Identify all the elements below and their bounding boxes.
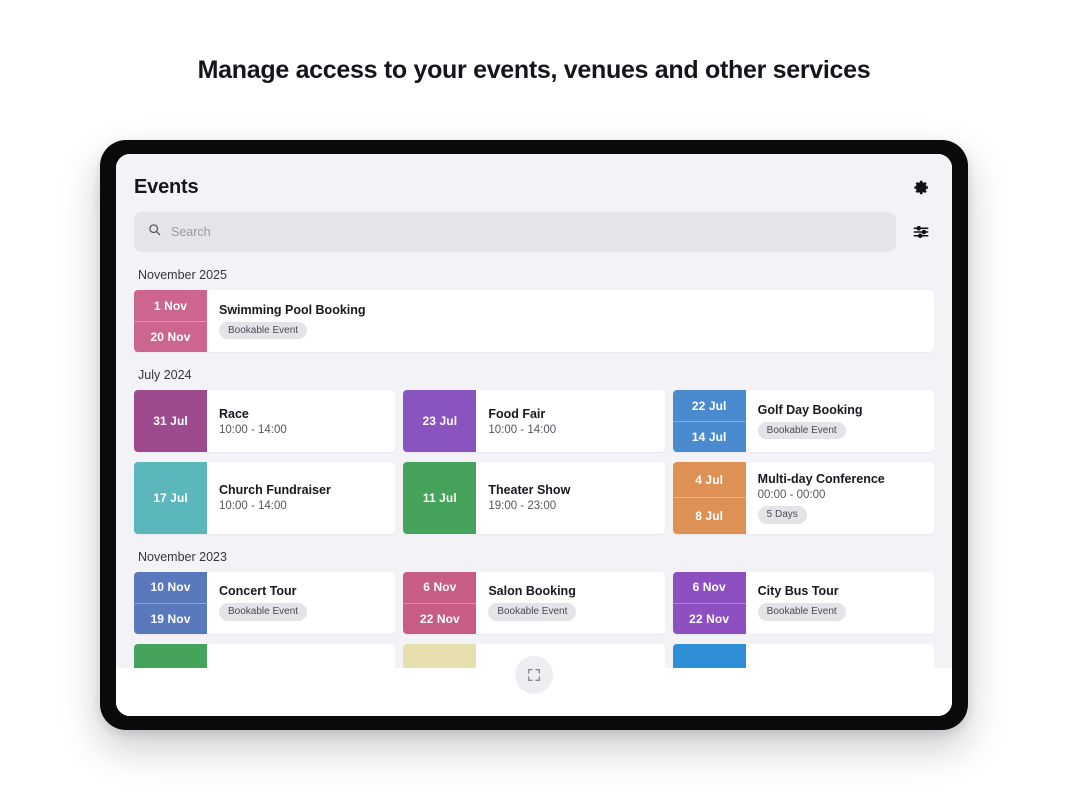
event-date-column: 22 Jul14 Jul [673,390,746,452]
event-card-body: Church Fundraiser10:00 - 14:00 [207,462,395,534]
event-date-chip: 23 Jul [403,390,476,452]
event-date-chip: 4 Jul [673,462,746,497]
event-date-column: 1 Nov20 Nov [134,290,207,352]
event-badge: Bookable Event [219,603,307,621]
event-card[interactable]: 10 Nov19 NovConcert TourBookable Event [134,572,395,634]
event-time: 00:00 - 00:00 [758,489,922,501]
group-label: July 2024 [138,368,934,382]
event-date-column: 31 Jul [134,390,207,452]
event-date-column: 1 Nov [673,644,746,669]
event-card-body: Theme Park Access [746,644,934,669]
event-card[interactable]: 4 Jul8 JulMulti-day Conference00:00 - 00… [673,462,934,534]
app-header: Events [116,154,952,206]
event-card[interactable]: 6 Nov22 NovSalon BookingBookable Event [403,572,664,634]
event-time: 19:00 - 23:00 [488,500,652,512]
event-card[interactable]: 6 NovYoga / Fitness Classes [134,644,395,669]
events-app: Events [116,154,952,716]
event-card-body: Golf Day BookingBookable Event [746,390,934,452]
group-label: November 2023 [138,550,934,564]
event-date-chip: 6 Nov [673,572,746,603]
page-title: Events [134,176,198,199]
event-title: Salon Booking [488,584,652,598]
event-card-body: Race10:00 - 14:00 [207,390,395,452]
event-date-column: 17 Jul [134,462,207,534]
event-card-body: Yoga / Fitness Classes [207,644,395,669]
event-date-column: 11 Jul [403,462,476,534]
event-title: Theater Show [488,483,652,497]
event-date-chip: 1 Nov [134,290,207,321]
event-title: Food Fair [488,407,652,421]
event-date-chip: 22 Nov [673,603,746,634]
event-title: City Bus Tour [758,584,922,598]
event-title: Concert Tour [219,584,383,598]
event-date-chip: 10 Nov [134,572,207,603]
event-title: Multi-day Conference [758,472,922,486]
page-headline: Manage access to your events, venues and… [0,56,1068,85]
event-card[interactable]: 22 Jul14 JulGolf Day BookingBookable Eve… [673,390,934,452]
event-date-chip: 6 Nov [403,644,476,669]
search-row [116,206,952,252]
event-card[interactable]: 1 Nov20 NovSwimming Pool BookingBookable… [134,290,934,352]
event-date-chip: 1 Nov [673,644,746,669]
event-date-column: 6 Nov22 Nov [403,572,476,634]
search-icon [148,223,161,241]
event-date-chip: 22 Nov [403,603,476,634]
event-badge: Bookable Event [219,322,307,340]
event-date-chip: 19 Nov [134,603,207,634]
event-card-grid: 31 JulRace10:00 - 14:0023 JulFood Fair10… [134,390,934,534]
event-title: Church Fundraiser [219,483,383,497]
event-card[interactable]: 31 JulRace10:00 - 14:00 [134,390,395,452]
event-date-chip: 6 Nov [134,644,207,669]
tablet-frame: Events [100,140,968,730]
event-card-body: Concert TourBookable Event [207,572,395,634]
event-card[interactable]: 17 JulChurch Fundraiser10:00 - 14:00 [134,462,395,534]
gear-icon[interactable] [908,174,934,200]
event-card[interactable]: 11 JulTheater Show19:00 - 23:00 [403,462,664,534]
event-date-chip: 6 Nov [403,572,476,603]
event-date-column: 23 Jul [403,390,476,452]
event-card-body: Multi-day Conference00:00 - 00:005 Days [746,462,934,534]
sliders-icon[interactable] [908,219,934,245]
event-card[interactable]: 23 JulFood Fair10:00 - 14:00 [403,390,664,452]
event-badge: Bookable Event [758,603,846,621]
event-badge: Bookable Event [488,603,576,621]
event-card-grid: 10 Nov19 NovConcert TourBookable Event6 … [134,572,934,669]
event-time: 10:00 - 14:00 [219,500,383,512]
event-date-column: 6 Nov [134,644,207,669]
event-card-body: Food Fair10:00 - 14:00 [476,390,664,452]
event-date-chip: 11 Jul [403,462,476,534]
event-date-column: 6 Nov22 Nov [673,572,746,634]
event-date-chip: 22 Jul [673,390,746,421]
event-date-chip: 17 Jul [134,462,207,534]
tablet-screen: Events [116,154,952,716]
event-date-chip: 31 Jul [134,390,207,452]
event-card[interactable]: 1 NovTheme Park Access [673,644,934,669]
event-badge: Bookable Event [758,422,846,440]
event-date-chip: 20 Nov [134,321,207,352]
event-card-body: Theater Show19:00 - 23:00 [476,462,664,534]
event-date-column: 6 Nov [403,644,476,669]
event-card[interactable]: 6 Nov22 NovCity Bus TourBookable Event [673,572,934,634]
event-date-column: 10 Nov19 Nov [134,572,207,634]
event-badge: 5 Days [758,506,807,524]
fullscreen-expand-icon[interactable] [515,656,553,694]
event-title: Race [219,407,383,421]
event-date-chip: 14 Jul [673,421,746,452]
event-date-chip: 8 Jul [673,497,746,533]
event-card-body: Salon BookingBookable Event [476,572,664,634]
event-time: 10:00 - 14:00 [219,424,383,436]
app-scroll-body: Events [116,154,952,668]
event-title: Golf Day Booking [758,403,922,417]
page-root: Manage access to your events, venues and… [0,0,1068,800]
event-card-body: City Bus TourBookable Event [746,572,934,634]
events-list: November 20251 Nov20 NovSwimming Pool Bo… [116,268,952,668]
search-input[interactable] [171,225,882,239]
event-title: Swimming Pool Booking [219,303,922,317]
search-box[interactable] [134,212,896,252]
event-card-body: Swimming Pool BookingBookable Event [207,290,934,352]
event-card-grid: 1 Nov20 NovSwimming Pool BookingBookable… [134,290,934,352]
event-card-body: Aquarium Entry [476,644,664,669]
event-time: 10:00 - 14:00 [488,424,652,436]
group-label: November 2025 [138,268,934,282]
event-date-column: 4 Jul8 Jul [673,462,746,534]
